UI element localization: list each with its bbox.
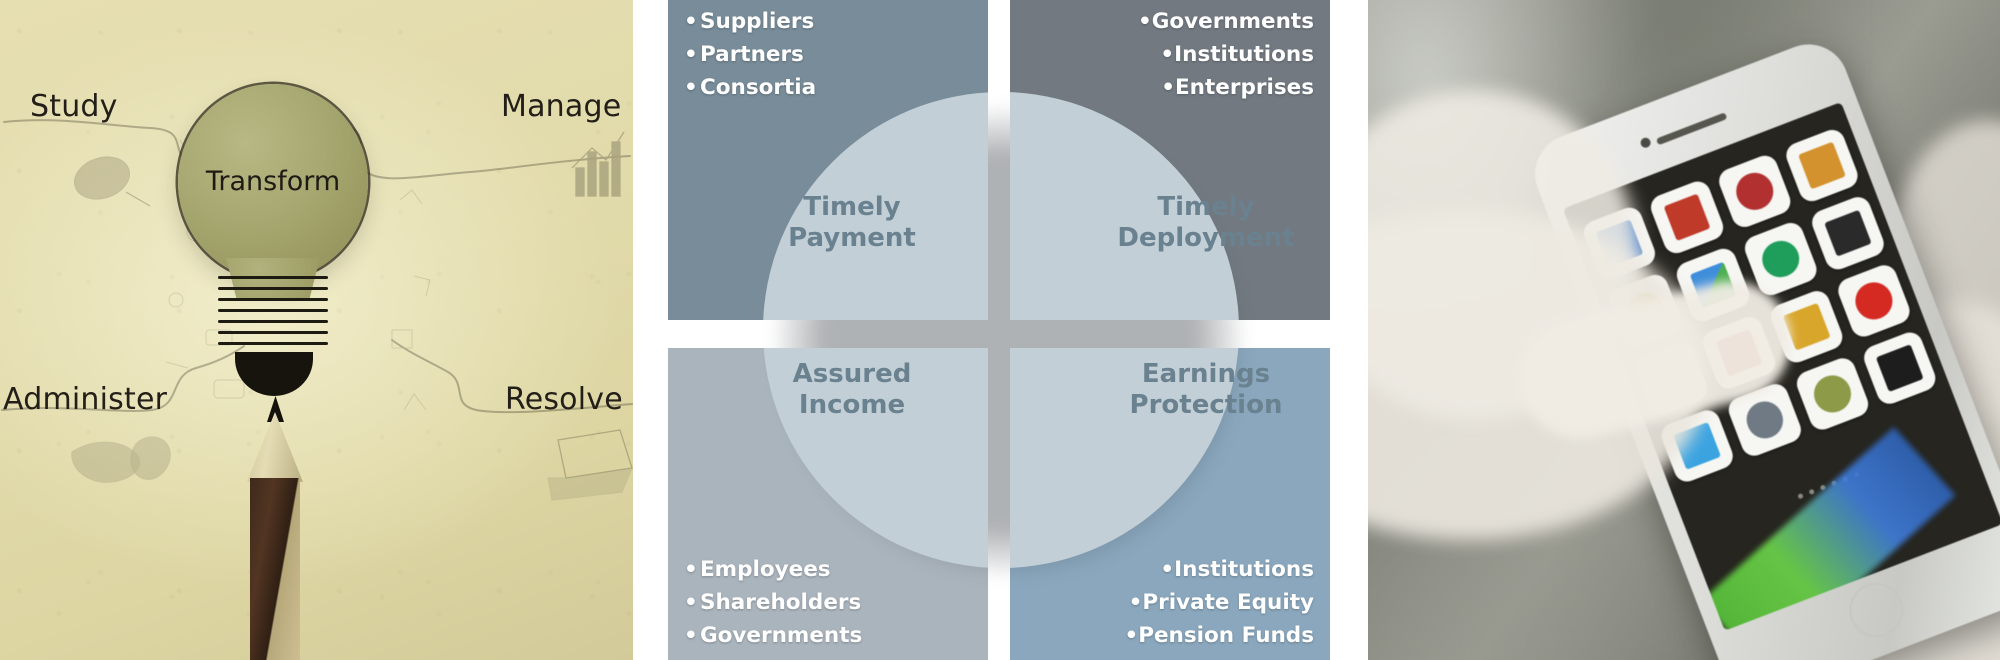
left-photo-lightbulb: Transform Study Manage Administer Resolv… — [0, 0, 633, 660]
label-study: Study — [30, 89, 118, 124]
three-panel-banner: Transform Study Manage Administer Resolv… — [0, 0, 2000, 660]
circle-label-timely-payment: Timely Payment — [752, 192, 952, 254]
lightbulb-screw-threads — [218, 276, 328, 354]
list-item: Governments — [684, 619, 862, 652]
right-photo-smartphone — [1368, 0, 2000, 660]
circle-label-line1: Timely — [752, 192, 952, 223]
app-icon[interactable] — [1808, 194, 1887, 273]
list-item: Institutions — [1122, 553, 1314, 586]
app-icon[interactable] — [1860, 328, 1939, 407]
app-icon[interactable] — [1647, 178, 1726, 257]
list-item: Pension Funds — [1122, 619, 1314, 652]
bullet-list-assured-income: Employees Shareholders Governments — [684, 553, 862, 652]
list-item: Suppliers — [684, 5, 816, 38]
circle-label-line2: Payment — [752, 223, 952, 254]
list-item: Private Equity — [1122, 586, 1314, 619]
label-manage: Manage — [501, 89, 621, 124]
pencil-icon — [247, 396, 303, 660]
circle-label-line2: Protection — [1106, 390, 1306, 421]
app-icon[interactable] — [1834, 261, 1913, 340]
bullet-list-timely-deployment: Governments Institutions Enterprises — [1136, 5, 1314, 104]
pencil-body — [250, 478, 300, 660]
bullet-list-earnings-protection: Institutions Private Equity Pension Fund… — [1122, 553, 1314, 652]
list-item: Governments — [1136, 5, 1314, 38]
bullet-list-timely-payment: Suppliers Partners Consortia — [684, 5, 816, 104]
front-camera-icon — [1639, 136, 1652, 149]
quadrant-timely-payment[interactable]: Suppliers Partners Consortia — [668, 0, 988, 320]
app-icon[interactable] — [1782, 126, 1861, 205]
app-icon[interactable] — [1793, 354, 1872, 433]
circle-label-line1: Timely — [1106, 192, 1306, 223]
list-item: Shareholders — [684, 586, 862, 619]
circle-label-timely-deployment: Timely Deployment — [1106, 192, 1306, 254]
list-item: Partners — [684, 38, 816, 71]
app-icon[interactable] — [1715, 152, 1794, 231]
list-item: Enterprises — [1136, 71, 1314, 104]
list-item: Institutions — [1136, 38, 1314, 71]
list-item: Employees — [684, 553, 862, 586]
lightbulb-center-label: Transform — [178, 166, 368, 197]
circle-label-assured-income: Assured Income — [752, 359, 952, 421]
circle-label-line1: Earnings — [1106, 359, 1306, 390]
circle-label-line1: Assured — [752, 359, 952, 390]
four-quadrant-circle-diagram: Suppliers Partners Consortia Governments… — [668, 0, 1330, 660]
home-button[interactable] — [1842, 575, 1912, 645]
quadrant-timely-deployment[interactable]: Governments Institutions Enterprises — [1010, 0, 1330, 320]
label-administer: Administer — [3, 382, 167, 417]
pencil-wood — [247, 412, 303, 482]
circle-label-line2: Income — [752, 390, 952, 421]
list-item: Consortia — [684, 71, 816, 104]
circle-label-earnings-protection: Earnings Protection — [1106, 359, 1306, 421]
label-resolve: Resolve — [505, 382, 623, 417]
circle-label-line2: Deployment — [1106, 223, 1306, 254]
earpiece-speaker-icon — [1656, 112, 1728, 145]
